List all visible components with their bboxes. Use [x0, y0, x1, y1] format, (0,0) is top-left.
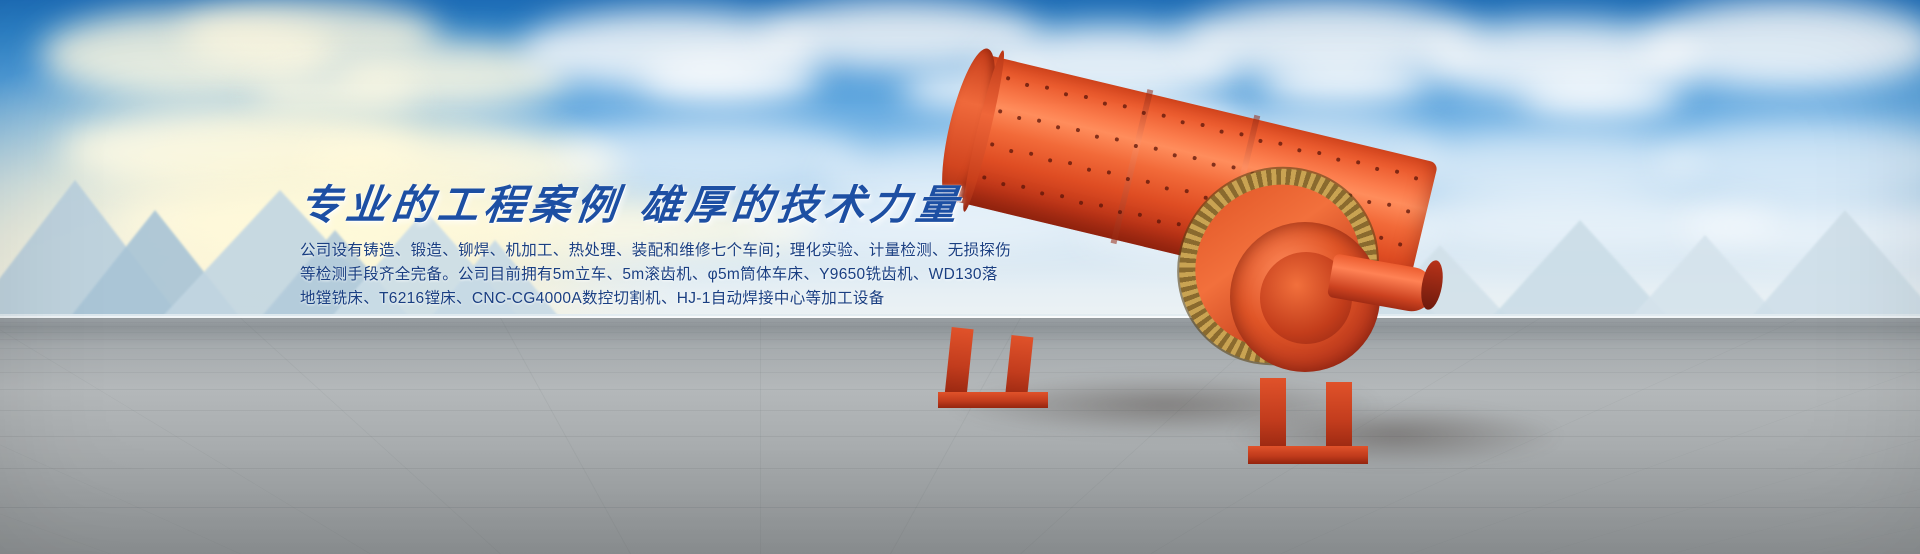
paragraph-line-1: 公司设有铸造、锻造、铆焊、机加工、热处理、装配和维修七个车间；理化实验、计量检测… [300, 239, 900, 263]
cloud [640, 55, 820, 103]
headline-left: 专业的工程案例 [297, 182, 625, 228]
floor-line [1670, 318, 1920, 554]
support-pier-right-b [1326, 382, 1352, 454]
cloud [250, 70, 420, 116]
ball-mill-machine [930, 150, 1690, 480]
floor-line [240, 318, 501, 554]
floor-line [1800, 318, 1920, 554]
support-base-left [938, 392, 1048, 408]
cloud [1520, 75, 1680, 117]
headline-right: 雄厚的技术力量 [637, 182, 965, 228]
floor-line [0, 318, 111, 554]
banner-paragraph: 公司设有铸造、锻造、铆焊、机加工、热处理、装配和维修七个车间；理化实验、计量检测… [300, 239, 900, 311]
paragraph-line-2: 等检测手段齐全完备。公司目前拥有5m立车、5m滚齿机、φ5m筒体车床、Y9650… [300, 263, 900, 287]
cloud [1640, 0, 1920, 90]
page-title: 专业的工程案例雄厚的技术力量 [297, 182, 943, 229]
support-pier-right-a [1260, 378, 1286, 454]
paragraph-line-3: 地镗铣床、T6216镗床、CNC-CG4000A数控切割机、HJ-1自动焊接中心… [300, 287, 900, 311]
support-pier-left-a [944, 327, 973, 399]
support-base-right [1248, 446, 1368, 464]
floor-line [500, 318, 631, 554]
banner-copy: 专业的工程案例雄厚的技术力量 公司设有铸造、锻造、铆焊、机加工、热处理、装配和维… [300, 182, 940, 311]
floor-line [0, 318, 371, 554]
hero-banner: 专业的工程案例雄厚的技术力量 公司设有铸造、锻造、铆焊、机加工、热处理、装配和维… [0, 0, 1920, 554]
floor-line [760, 318, 761, 554]
mountain-peak [1740, 207, 1920, 330]
cloud [1260, 60, 1430, 104]
floor-line [0, 318, 241, 554]
